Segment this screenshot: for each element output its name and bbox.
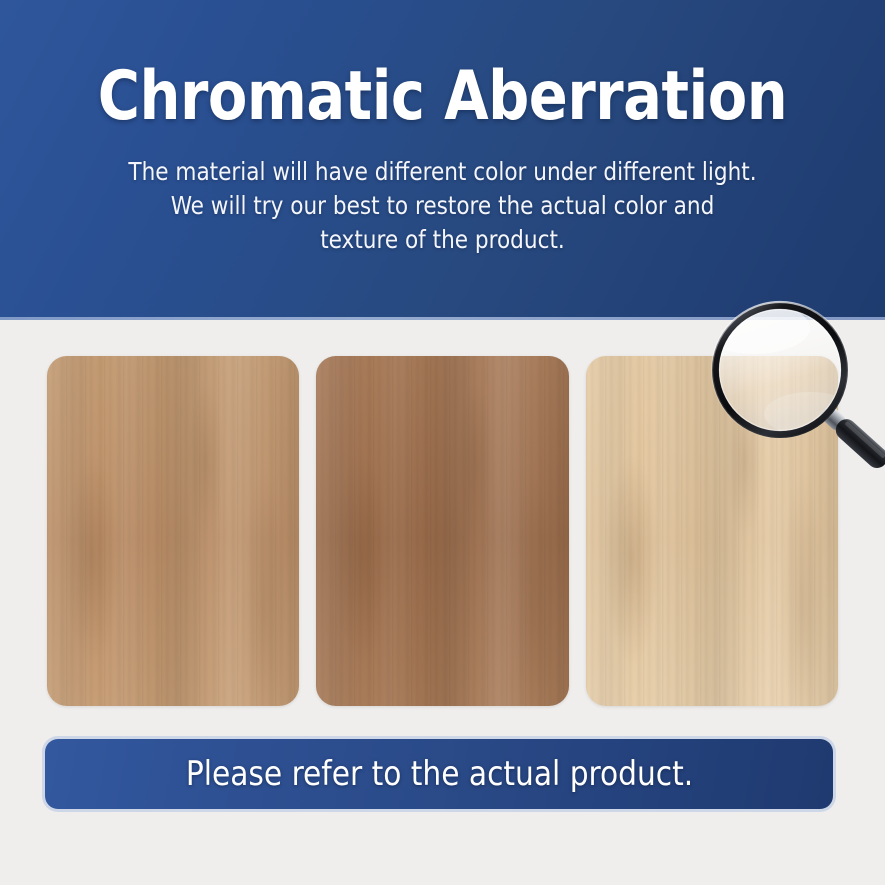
wood-swatch-light-blonde — [586, 356, 838, 706]
page-title: Chromatic Aberration — [27, 56, 859, 138]
wood-grain-sheen-layer — [47, 356, 299, 706]
header-banner: Chromatic Aberration The material will h… — [0, 0, 885, 320]
wood-swatch-dark-brown — [316, 356, 568, 706]
bottom-banner-text: Please refer to the actual product. — [185, 755, 692, 793]
subtitle-line-2: We will try our best to restore the actu… — [18, 189, 868, 223]
subtitle-line-3: texture of the product. — [18, 223, 868, 257]
chromatic-aberration-infographic: Chromatic Aberration The material will h… — [0, 0, 885, 885]
header-subtitle: The material will have different color u… — [18, 155, 868, 257]
wood-grain-sheen-layer — [586, 356, 838, 706]
wood-swatch-medium-tan — [47, 356, 299, 706]
bottom-banner: Please refer to the actual product. — [45, 739, 833, 809]
wood-grain-sheen-layer — [316, 356, 568, 706]
subtitle-line-1: The material will have different color u… — [18, 155, 868, 189]
wood-swatch-row — [47, 356, 838, 706]
